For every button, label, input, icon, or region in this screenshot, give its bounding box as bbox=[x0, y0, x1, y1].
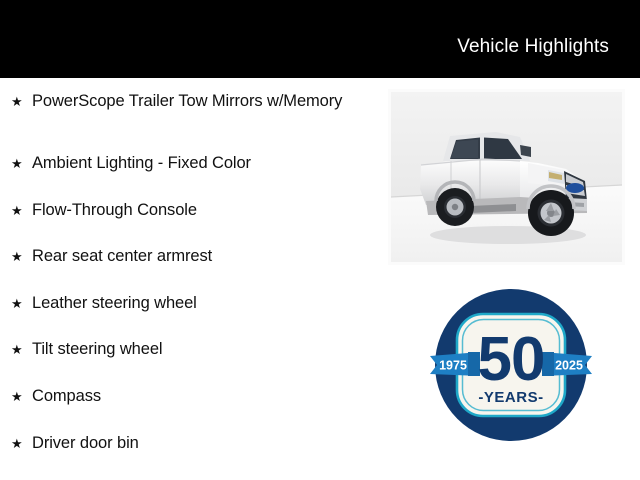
list-item-label: Ambient Lighting - Fixed Color bbox=[32, 140, 375, 174]
end-year-text: 2025 bbox=[555, 359, 583, 373]
end-year-ribbon: 2025 bbox=[542, 352, 592, 376]
list-item-label: Flow-Through Console bbox=[32, 187, 375, 221]
list-item-label: Rear seat center armrest bbox=[32, 233, 375, 267]
list-item: ★ Driver door bin bbox=[0, 420, 375, 467]
badge-number: 50 bbox=[478, 325, 545, 394]
list-item: ★ Compass bbox=[0, 373, 375, 420]
anniversary-badge: 1975 2025 50 -YEARS- bbox=[428, 282, 594, 448]
star-bullet-icon: ★ bbox=[11, 140, 32, 176]
list-item: ★ Leather steering wheel bbox=[0, 280, 375, 327]
list-item-label: Compass bbox=[32, 373, 375, 407]
list-item: ★ Tilt steering wheel bbox=[0, 326, 375, 373]
start-year-text: 1975 bbox=[439, 359, 467, 373]
list-item: ★ Rear seat center armrest bbox=[0, 233, 375, 280]
list-item-label: PowerScope Trailer Tow Mirrors w/Memory bbox=[32, 78, 375, 112]
vehicle-highlights-list: ★ PowerScope Trailer Tow Mirrors w/Memor… bbox=[0, 78, 375, 466]
page-header: Vehicle Highlights bbox=[0, 0, 640, 78]
list-item: ★ Ambient Lighting - Fixed Color bbox=[0, 140, 375, 187]
star-bullet-icon: ★ bbox=[11, 78, 32, 114]
vehicle-photo bbox=[388, 89, 625, 265]
vehicle-highlights-page: Vehicle Highlights ★ PowerScope Trailer … bbox=[0, 0, 640, 480]
start-year-ribbon: 1975 bbox=[430, 352, 480, 376]
page-title: Vehicle Highlights bbox=[457, 23, 609, 56]
content-area: ★ PowerScope Trailer Tow Mirrors w/Memor… bbox=[0, 78, 640, 480]
star-bullet-icon: ★ bbox=[11, 187, 32, 223]
list-item-label: Tilt steering wheel bbox=[32, 326, 375, 360]
star-bullet-icon: ★ bbox=[11, 280, 32, 316]
star-bullet-icon: ★ bbox=[11, 373, 32, 409]
star-bullet-icon: ★ bbox=[11, 326, 32, 362]
list-item: ★ PowerScope Trailer Tow Mirrors w/Memor… bbox=[0, 78, 375, 140]
list-item: ★ Flow-Through Console bbox=[0, 187, 375, 234]
star-bullet-icon: ★ bbox=[11, 420, 32, 456]
star-bullet-icon: ★ bbox=[11, 233, 32, 269]
list-item-label: Driver door bin bbox=[32, 420, 375, 454]
list-item-label: Leather steering wheel bbox=[32, 280, 375, 314]
badge-years-label: -YEARS- bbox=[478, 389, 543, 406]
